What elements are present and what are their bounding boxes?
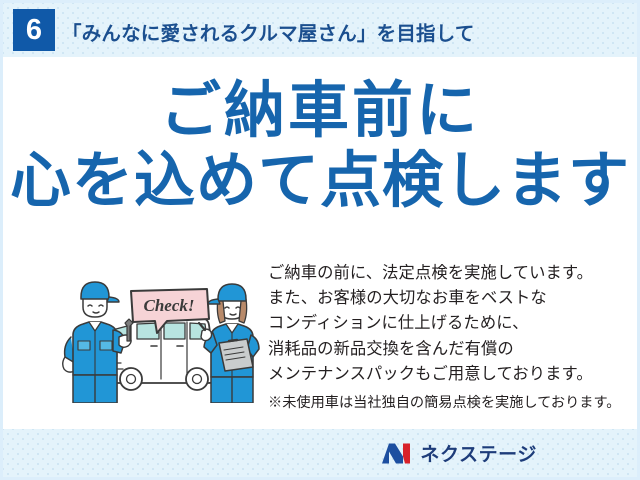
footer-band: ネクステージ: [3, 429, 637, 477]
headline-line-1: ご納車前に: [3, 79, 637, 141]
body-disclaimer-note: ※未使用車は当社独自の簡易点検を実施しております。: [268, 391, 628, 416]
brand-logo: ネクステージ: [381, 440, 537, 467]
body-line-5: メンテナンスパックもご用意しております。: [268, 362, 628, 387]
body-line-1: ご納車の前に、法定点検を実施しています。: [268, 261, 628, 286]
header-band: 6 「みんなに愛されるクルマ屋さん」を目指して: [3, 3, 637, 57]
brand-name-label: ネクステージ: [420, 440, 537, 467]
body-line-4: 消耗品の新品交換を含んだ有償の: [268, 337, 628, 362]
advertisement-frame: 6 「みんなに愛されるクルマ屋さん」を目指して ご納車前に 心を込めて点検します: [0, 0, 640, 480]
body-text-block: ご納車の前に、法定点検を実施しています。 また、お客様の大切なお車をベストな コ…: [268, 261, 628, 416]
body-line-2: また、お客様の大切なお車をベストな: [268, 286, 628, 311]
section-number-badge: 6: [13, 9, 55, 51]
headline-line-2: 心を込めて点検します: [3, 149, 637, 211]
mechanics-illustration-svg: Check!: [61, 275, 261, 403]
nextage-n-logo-icon: [381, 442, 413, 464]
check-bubble-label: Check!: [144, 296, 195, 315]
main-headline: ご納車前に 心を込めて点検します: [3, 79, 637, 211]
header-title: 「みんなに愛されるクルマ屋さん」を目指して: [62, 17, 475, 46]
body-line-3: コンディションに仕上げるために、: [268, 311, 628, 336]
mechanics-illustration: Check!: [61, 275, 261, 403]
